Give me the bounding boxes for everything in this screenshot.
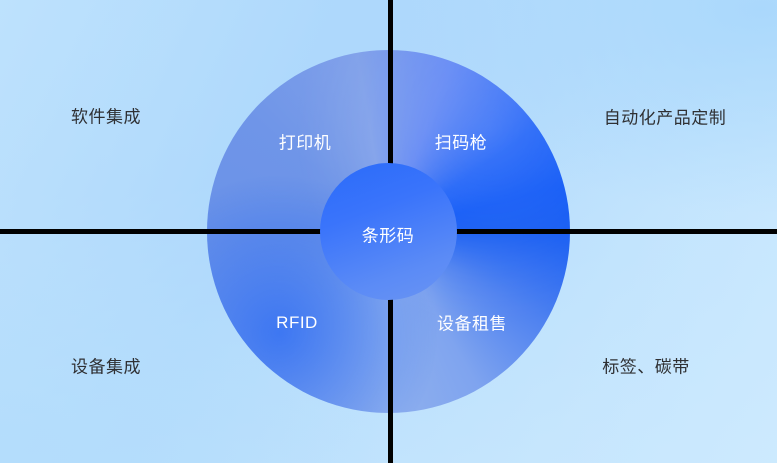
outer-label-software-integration: 软件集成 [71,103,141,128]
outer-label-device-integration: 设备集成 [71,353,141,378]
outer-label-labels-ribbons: 标签、碳带 [602,353,690,378]
inner-label-equipment-rental: 设备租售 [437,310,507,335]
inner-label-scanner: 扫码枪 [435,129,488,154]
inner-label-rfid: RFID [276,313,318,333]
diagram-canvas: 软件集成 自动化产品定制 设备集成 标签、碳带 打印机 扫码枪 RFID 设备租… [0,0,777,463]
inner-label-printer: 打印机 [279,129,332,154]
core-label-barcode: 条形码 [362,222,415,247]
outer-label-automation-customization: 自动化产品定制 [604,104,727,129]
